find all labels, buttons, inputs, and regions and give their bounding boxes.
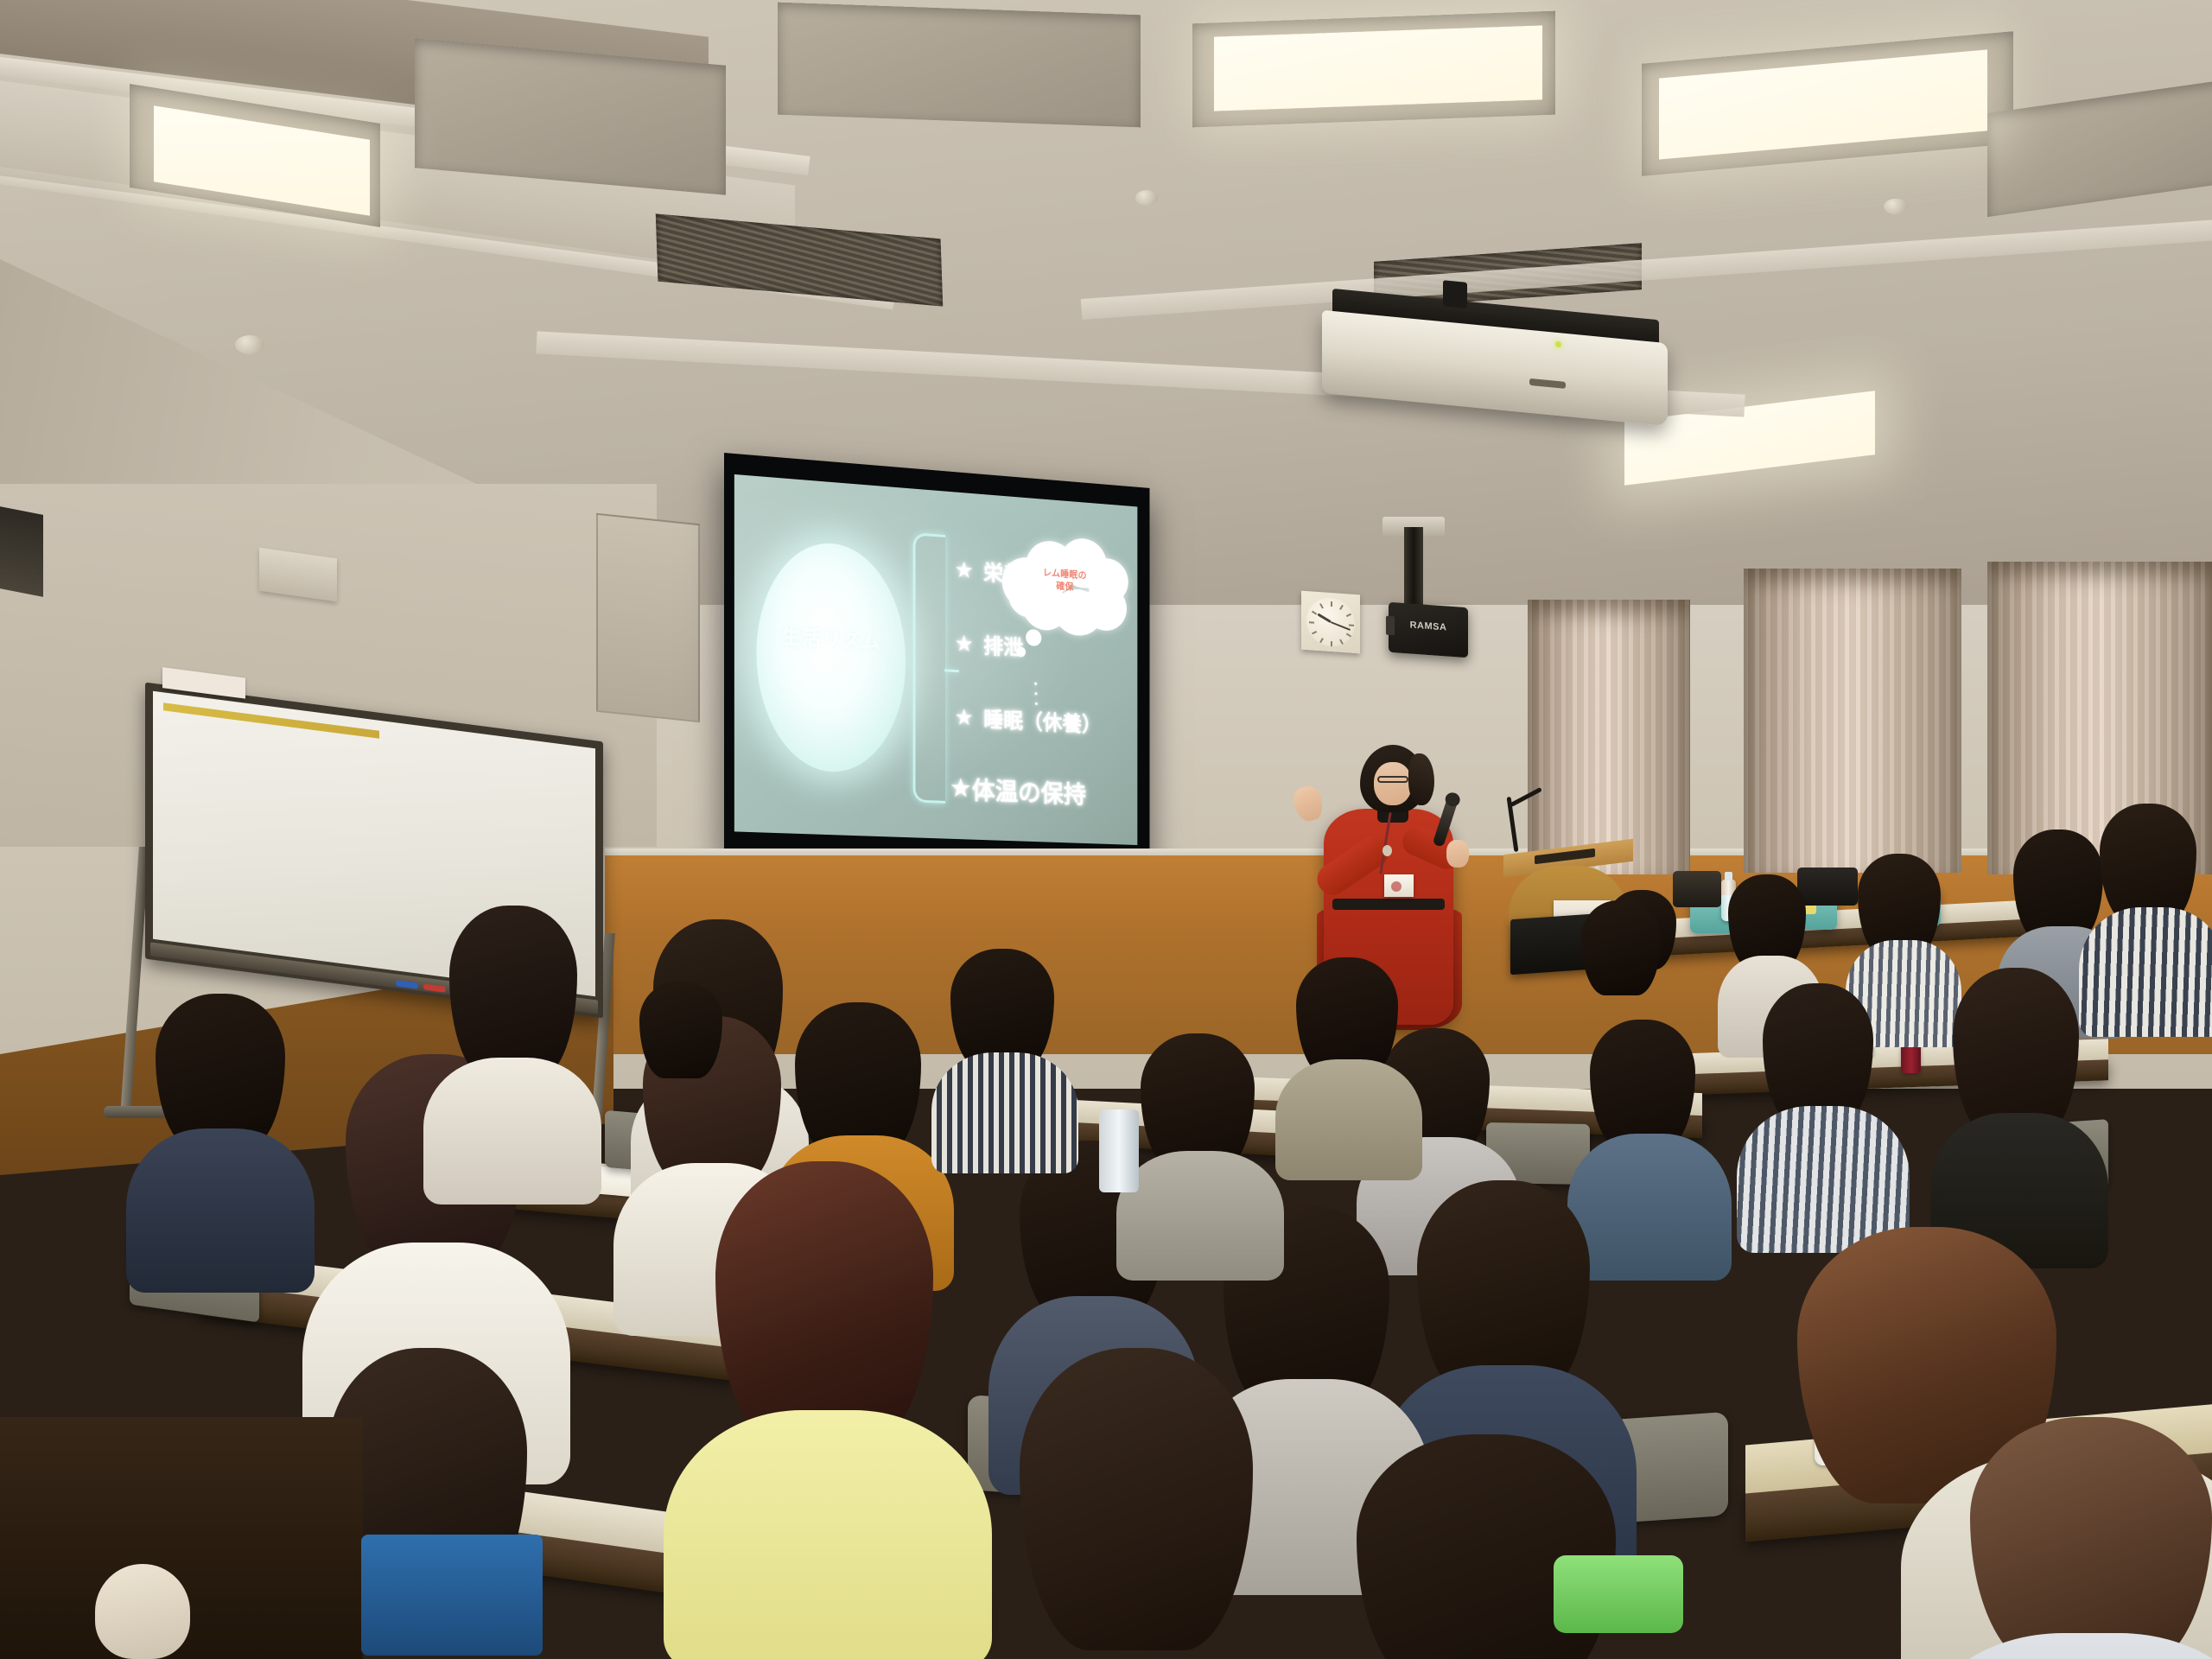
ceiling-light-panel [1214, 25, 1542, 111]
torso [2079, 907, 2212, 1037]
star-icon: ★ [956, 705, 972, 728]
pencil-case [1554, 1555, 1683, 1633]
hair [639, 982, 722, 1078]
thermos [1099, 1109, 1139, 1192]
ceiling-air-vent [656, 213, 944, 306]
torso [1567, 1134, 1732, 1281]
hair [950, 949, 1054, 1070]
speaker-brand-label: RAMSA [1389, 619, 1468, 634]
bubble-tail [1016, 646, 1026, 657]
slide-bullet-text: 体温の保持 [972, 771, 1086, 810]
torso [1116, 1151, 1284, 1281]
curtain-center [1744, 569, 1961, 873]
clock-face [1306, 596, 1355, 648]
slide-bullet: ★ 排泄 [956, 628, 1133, 669]
hair [1953, 968, 2079, 1137]
presenter-hair-side [1408, 753, 1434, 805]
star-icon: ★ [956, 632, 972, 655]
hair [1141, 1033, 1255, 1170]
smoke-detector [235, 335, 264, 354]
name-badge [1384, 874, 1414, 897]
wall-panel [596, 513, 700, 723]
hair [156, 994, 285, 1149]
torso [931, 1052, 1078, 1173]
handbag [1673, 871, 1721, 907]
smoke-detector [1135, 190, 1158, 206]
torso [664, 1410, 992, 1659]
clock-hour-hand [1317, 613, 1331, 623]
projection-screen: 生活リズム ★ 栄養 ★ 排泄 ★ 睡眠（休養） ★ 体温の保持 [724, 453, 1149, 870]
slide-bullet: ★ 体温の保持 [951, 770, 1133, 812]
bag [95, 1564, 190, 1659]
hair [449, 906, 577, 1078]
wall-speaker: RAMSA [1389, 602, 1468, 658]
slide-canvas: 生活リズム ★ 栄養 ★ 排泄 ★ 睡眠（休養） ★ 体温の保持 [734, 474, 1137, 845]
slide-oval-label: 生活リズム [756, 624, 906, 655]
slide-bullet: ★ 睡眠（休養） [956, 702, 1133, 741]
hair [1417, 1180, 1590, 1396]
hair [1763, 983, 1873, 1125]
lecture-hall-photo: 生活リズム ★ 栄養 ★ 排泄 ★ 睡眠（休養） ★ 体温の保持 [0, 0, 2212, 1659]
slide-ellipsis: ･･･ [1025, 679, 1048, 709]
wall-clock [1301, 591, 1360, 654]
presenter-face [1374, 762, 1412, 805]
torso [126, 1128, 315, 1293]
hair [2013, 829, 2103, 942]
wall-dark-panel [0, 505, 43, 597]
ceiling-recess [1987, 77, 2212, 217]
slide-brace [913, 532, 945, 804]
bag [361, 1535, 543, 1656]
presenter-mic-hand [1446, 840, 1469, 868]
presenter-raised-hand [1290, 783, 1326, 823]
glasses-icon [1377, 776, 1408, 783]
clock-minute-hand [1331, 621, 1351, 631]
projector-status-led [1555, 341, 1561, 348]
curtain-left [1528, 600, 1690, 874]
hair [715, 1161, 933, 1446]
torso [1275, 1059, 1422, 1180]
necklace-pendant [1382, 845, 1392, 856]
hair [1970, 1417, 2212, 1659]
hair [1590, 1020, 1695, 1149]
slide-thought-bubble: レム睡眠の 確保 [999, 532, 1129, 639]
slide-bullet-text: 排泄 [983, 630, 1023, 662]
ceiling-recess [778, 3, 1141, 128]
presenter-belt [1332, 899, 1445, 910]
handbag [1797, 868, 1858, 906]
projector-arm [1443, 280, 1467, 308]
slide-bullet-text: 睡眠（休養） [983, 703, 1101, 739]
slide-oval-shape: 生活リズム [756, 538, 906, 775]
hair [1581, 900, 1661, 995]
star-icon: ★ [951, 775, 970, 802]
thought-bubble-text: レム睡眠の 確保 [999, 564, 1129, 598]
torso [423, 1058, 601, 1205]
hair [1020, 1348, 1253, 1650]
smoke-detector [1884, 199, 1908, 214]
ceiling-recess [415, 38, 726, 194]
bubble-tail [1026, 629, 1041, 646]
star-icon: ★ [956, 558, 972, 582]
hair [2100, 804, 2196, 923]
hair [795, 1002, 921, 1156]
